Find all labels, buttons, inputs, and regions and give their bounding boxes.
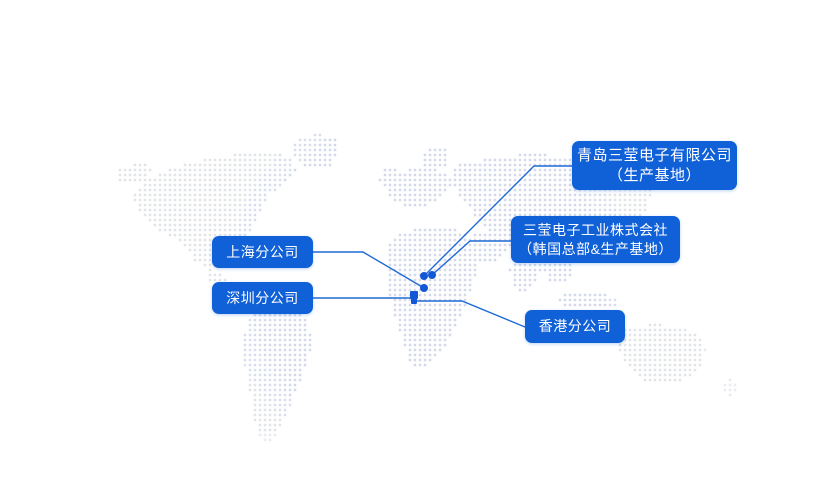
node-qingdao[interactable]: [420, 272, 428, 280]
callout-hongkong-label: 香港分公司: [539, 317, 612, 335]
map-graphic-stage: 青岛三莹电子有限公司 （生产基地） 三莹电子工业株式会社 （韩国总部&生产基地）…: [0, 0, 824, 480]
world-map-canvas: [0, 0, 824, 480]
callout-korea-hq[interactable]: 三莹电子工业株式会社 （韩国总部&生产基地）: [511, 216, 680, 263]
node-korea[interactable]: [428, 271, 436, 279]
node-shanghai[interactable]: [420, 284, 428, 292]
callout-hongkong[interactable]: 香港分公司: [525, 310, 625, 343]
callout-shenzhen[interactable]: 深圳分公司: [212, 282, 313, 314]
callout-korea-line-1: 三莹电子工业株式会社: [523, 221, 668, 239]
callout-qingdao-line-1: 青岛三莹电子有限公司: [577, 146, 732, 166]
world-map-dotted: [0, 0, 824, 480]
callout-shanghai-label: 上海分公司: [226, 243, 299, 261]
callout-qingdao-line-2: （生产基地）: [608, 166, 701, 186]
callout-korea-line-2: （韩国总部&生产基地）: [518, 240, 673, 258]
node-hongkong[interactable]: [411, 298, 417, 304]
callout-shanghai[interactable]: 上海分公司: [212, 236, 313, 268]
callout-qingdao[interactable]: 青岛三莹电子有限公司 （生产基地）: [572, 141, 737, 190]
callout-shenzhen-label: 深圳分公司: [226, 289, 299, 307]
